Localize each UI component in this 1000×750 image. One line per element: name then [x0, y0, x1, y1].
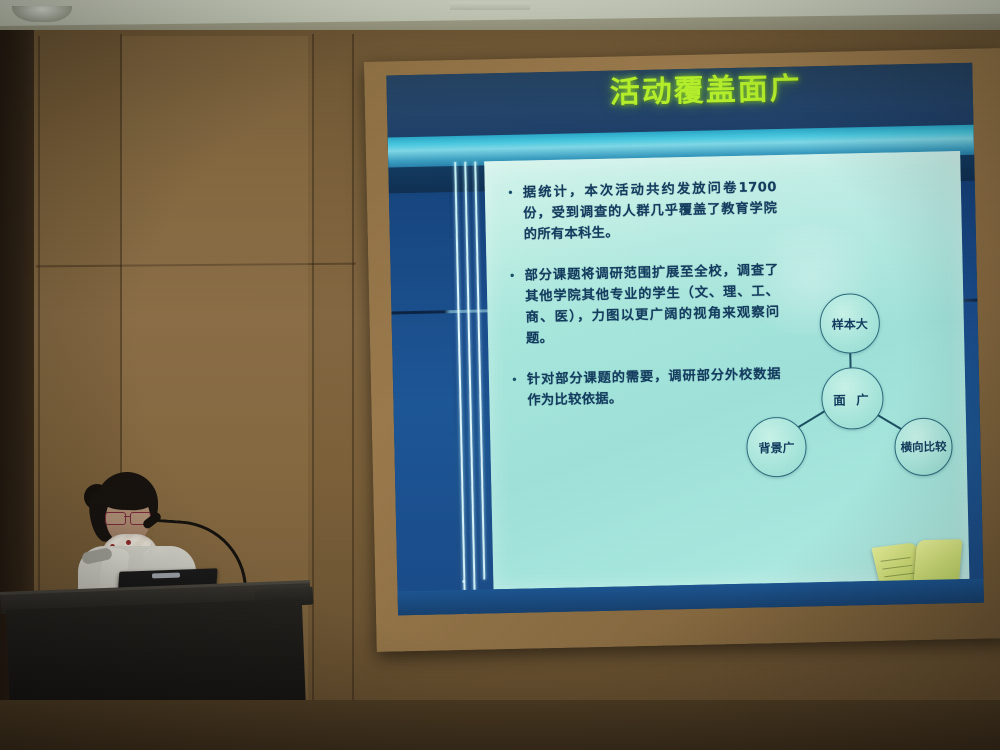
photo-scene: 活动覆盖面广 • 据统计，本次活动共约发放问卷1700份，受到调查的人群几乎覆盖… [0, 0, 1000, 750]
bullet-text: 部分课题将调研范围扩展至全校，调查了其他学院其他专业的学生（文、理、工、商、医）… [524, 260, 780, 350]
bullet-text: 据统计，本次活动共约发放问卷1700份，受到调查的人群几乎覆盖了教育学院的所有本… [523, 177, 778, 246]
slide-title-text: 活动覆盖面广 [609, 71, 802, 110]
diagram-node-label: 样本大 [832, 315, 868, 333]
diagram-node-center: 面 广 [821, 367, 884, 430]
bullet-item: • 部分课题将调研范围扩展至全校，调查了其他学院其他专业的学生（文、理、工、商、… [508, 260, 780, 350]
projection-screen-surface: 活动覆盖面广 • 据统计，本次活动共约发放问卷1700份，受到调查的人群几乎覆盖… [386, 63, 984, 616]
wall-panel-seam [352, 34, 354, 750]
bullet-item: • 针对部分课题的需要，调研部分外校数据作为比较依据。 [511, 364, 782, 412]
diagram-node-label: 背景广 [758, 438, 794, 456]
diagram-node-bottom-right: 横向比较 [894, 417, 953, 476]
bullet-list: • 据统计，本次活动共约发放问卷1700份，受到调查的人群几乎覆盖了教育学院的所… [507, 177, 782, 432]
projection-screen-frame: 活动覆盖面广 • 据统计，本次活动共约发放问卷1700份，受到调查的人群几乎覆盖… [364, 48, 1000, 652]
diagram-node-label: 面 广 [833, 389, 872, 409]
node-diagram: 样本大 面 广 背景广 横向比较 [763, 299, 967, 493]
ceiling-light-strip [450, 2, 530, 10]
floor [0, 700, 1000, 750]
diagram-node-bottom-left: 背景广 [746, 416, 807, 477]
diagram-node-top: 样本大 [819, 293, 880, 354]
bullet-marker-icon: • [507, 183, 524, 246]
slide-vertical-dot [462, 580, 465, 583]
bullet-marker-icon: • [511, 370, 528, 412]
laptop-latch [152, 573, 180, 579]
slide-content-panel: • 据统计，本次活动共约发放问卷1700份，受到调查的人群几乎覆盖了教育学院的所… [484, 151, 969, 589]
bullet-marker-icon: • [508, 266, 526, 350]
bullet-text: 针对部分课题的需要，调研部分外校数据作为比较依据。 [527, 364, 782, 412]
slide: 活动覆盖面广 • 据统计，本次活动共约发放问卷1700份，受到调查的人群几乎覆盖… [386, 63, 984, 616]
slide-left-column [389, 192, 458, 615]
bullet-item: • 据统计，本次活动共约发放问卷1700份，受到调查的人群几乎覆盖了教育学院的所… [507, 177, 778, 246]
diagram-node-label: 横向比较 [900, 439, 946, 454]
